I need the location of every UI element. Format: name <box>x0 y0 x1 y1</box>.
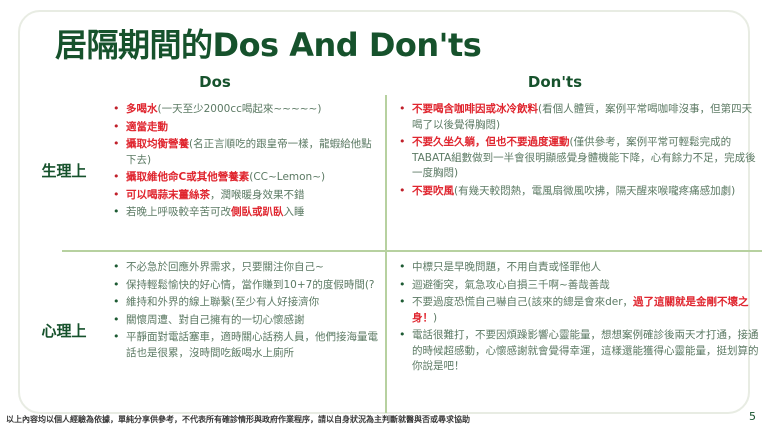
list-item-rest: (一天至少2000cc喝起來~~~~~) <box>158 103 322 115</box>
list-item: 不要久坐久躺，但也不要過度運動(僅供參考，案例平常可輕鬆完成的TABATA組數做… <box>398 135 760 182</box>
bullet-list-donts-physiological: 不要喝含咖啡因或冰冷飲料(看個人體質，案例平常喝咖啡沒事，但第四天喝了以後覺得胸… <box>398 102 760 199</box>
column-header-donts: Don'ts <box>490 73 620 91</box>
bullet-list-dos-physiological: 多喝水(一天至少2000cc喝起來~~~~~)適當走動攝取均衡營養(名正言順吃的… <box>112 102 380 221</box>
list-item-rest: ，潤喉暖身效果不錯 <box>210 189 305 201</box>
list-item-prefix: 若晚上呼吸較辛苦可改 <box>126 206 231 218</box>
page-title: 居隔期間的Dos And Don'ts <box>55 20 481 66</box>
list-item: 中標只是早晚問題，不用自責或怪罪他人 <box>398 260 760 276</box>
footer-disclaimer: 以上內容均以個人經驗為依據，單純分享供參考，不代表所有確診情形與政府作業程序，請… <box>6 414 746 425</box>
slide-root: 居隔期間的Dos And Don'ts Dos Don'ts 生理上 心理上 多… <box>0 0 770 434</box>
cell-dos-psychological: 不必急於回應外界需求，只要關注你自己~保持輕鬆愉快的好心情，當作賺到10+7的度… <box>112 260 380 363</box>
list-item-prefix: 迴避衝突，氣急攻心自損三千啊~善哉善哉 <box>412 279 610 291</box>
list-item-highlight: 側臥或趴臥 <box>231 206 284 218</box>
list-item-highlight: 不要喝含咖啡因或冰冷飲料 <box>412 103 538 115</box>
vertical-divider <box>385 95 387 413</box>
list-item-rest: (有幾天較悶熱，電風扇微風吹拂，隔天醒來喉嚨疼痛感加劇) <box>454 185 735 197</box>
list-item: 關懷周遭、對自己擁有的一切心懷感謝 <box>112 313 380 329</box>
cell-donts-psychological: 中標只是早晚問題，不用自責或怪罪他人迴避衝突，氣急攻心自損三千啊~善哉善哉不要過… <box>398 260 760 377</box>
cell-dos-physiological: 多喝水(一天至少2000cc喝起來~~~~~)適當走動攝取均衡營養(名正言順吃的… <box>112 102 380 223</box>
page-number: 5 <box>749 410 756 423</box>
list-item-rest: 入睡 <box>284 206 305 218</box>
list-item-highlight: 攝取維他命C或其他營養素 <box>126 171 249 183</box>
row-label-physiological: 生理上 <box>24 160 104 181</box>
column-header-dos: Dos <box>150 73 280 91</box>
bullet-list-dos-psychological: 不必急於回應外界需求，只要關注你自己~保持輕鬆愉快的好心情，當作賺到10+7的度… <box>112 260 380 361</box>
list-item: 不要過度恐慌自己嚇自己(該來的總是會來der，過了這關就是金剛不壞之身！) <box>398 295 760 326</box>
list-item-prefix: 中標只是早晚問題，不用自責或怪罪他人 <box>412 261 601 273</box>
list-item-highlight: 攝取均衡營養 <box>126 138 189 150</box>
list-item-text: 保持輕鬆愉快的好心情，當作賺到10+7的度假時間(? <box>126 279 375 291</box>
list-item-highlight: 可以喝蒜末薑絲茶 <box>126 189 210 201</box>
list-item-text: 關懷周遭、對自己擁有的一切心懷感謝 <box>126 314 305 326</box>
list-item: 平靜面對電話塞車，適時關心話務人員，他們接海量電話也是很累，沒時間吃飯喝水上廁所 <box>112 330 380 361</box>
list-item: 若晚上呼吸較辛苦可改側臥或趴臥入睡 <box>112 205 380 221</box>
list-item-rest: (CC~Lemon~) <box>249 171 325 183</box>
list-item-highlight: 適當走動 <box>126 121 168 133</box>
list-item-prefix: 不要過度恐慌自己嚇自己(該來的總是會來der， <box>412 296 633 308</box>
list-item: 電話很難打，不要因煩躁影響心靈能量，想想案例確診後兩天才打通，接通的時候超感動，… <box>398 328 760 375</box>
row-label-psychological: 心理上 <box>24 320 104 341</box>
list-item: 可以喝蒜末薑絲茶，潤喉暖身效果不錯 <box>112 188 380 204</box>
list-item-text: 平靜面對電話塞車，適時關心話務人員，他們接海量電話也是很累，沒時間吃飯喝水上廁所 <box>126 331 378 359</box>
list-item: 不必急於回應外界需求，只要關注你自己~ <box>112 260 380 276</box>
list-item-highlight: 不要吹風 <box>412 185 454 197</box>
list-item-highlight: 不要久坐久躺，但也不要過度運動 <box>412 136 570 148</box>
list-item-prefix: 電話很難打，不要因煩躁影響心靈能量，想想案例確診後兩天才打通，接通的時候超感動，… <box>412 329 759 372</box>
list-item-suffix: ) <box>433 312 437 324</box>
list-item: 不要吹風(有幾天較悶熱，電風扇微風吹拂，隔天醒來喉嚨疼痛感加劇) <box>398 184 760 200</box>
list-item: 保持輕鬆愉快的好心情，當作賺到10+7的度假時間(? <box>112 278 380 294</box>
list-item-text: 不必急於回應外界需求，只要關注你自己~ <box>126 261 324 273</box>
list-item: 不要喝含咖啡因或冰冷飲料(看個人體質，案例平常喝咖啡沒事，但第四天喝了以後覺得胸… <box>398 102 760 133</box>
list-item: 多喝水(一天至少2000cc喝起來~~~~~) <box>112 102 380 118</box>
list-item: 適當走動 <box>112 120 380 136</box>
list-item: 攝取維他命C或其他營養素(CC~Lemon~) <box>112 170 380 186</box>
list-item-highlight: 多喝水 <box>126 103 158 115</box>
list-item: 迴避衝突，氣急攻心自損三千啊~善哉善哉 <box>398 278 760 294</box>
horizontal-divider <box>62 250 762 252</box>
list-item: 攝取均衡營養(名正言順吃的跟皇帝一樣，龍蝦給他點下去) <box>112 137 380 168</box>
bullet-list-donts-psychological: 中標只是早晚問題，不用自責或怪罪他人迴避衝突，氣急攻心自損三千啊~善哉善哉不要過… <box>398 260 760 375</box>
list-item: 維持和外界的線上聯繫(至少有人好接濟你 <box>112 295 380 311</box>
cell-donts-physiological: 不要喝含咖啡因或冰冷飲料(看個人體質，案例平常喝咖啡沒事，但第四天喝了以後覺得胸… <box>398 102 760 201</box>
list-item-text: 維持和外界的線上聯繫(至少有人好接濟你 <box>126 296 319 308</box>
